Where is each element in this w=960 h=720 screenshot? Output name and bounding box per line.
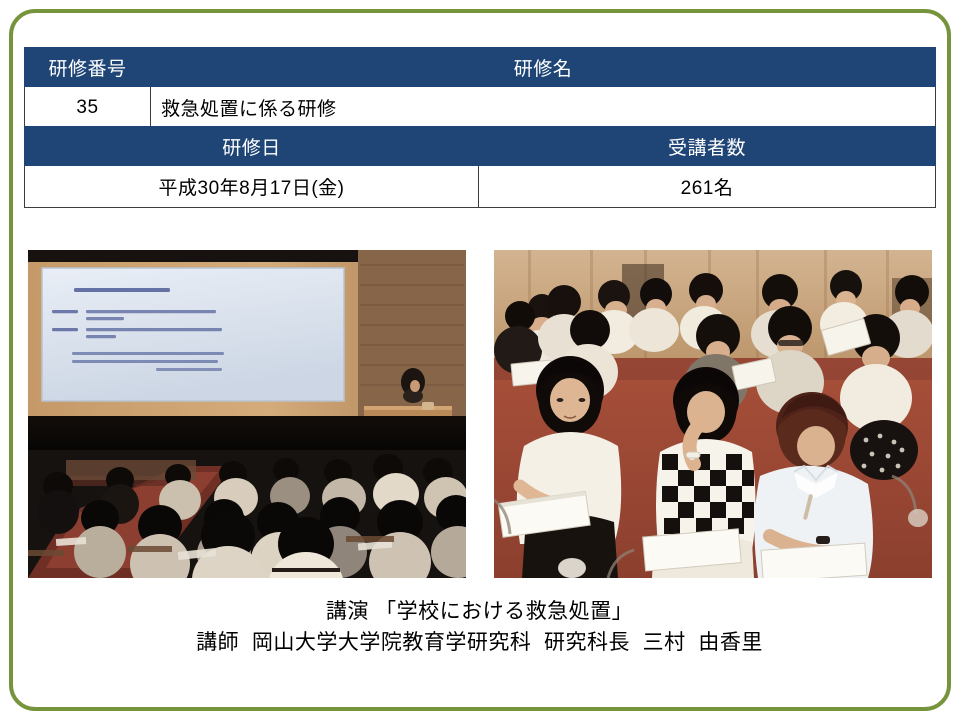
workshop-participants-photo — [494, 250, 932, 578]
training-info-table: 研修番号 研修名 35 救急処置に係る研修 — [24, 47, 936, 129]
caption-line-lecturer: 講師 岡山大学大学院教育学研究科 研究科長 三村 由香里 — [24, 627, 935, 658]
attendee-count-header: 受講者数 — [479, 127, 936, 166]
attendee-count-value: 261名 — [479, 166, 936, 208]
table-row-course-header: 研修番号 研修名 — [25, 48, 936, 87]
course-date-header: 研修日 — [25, 127, 479, 166]
course-title-value: 救急処置に係る研修 — [151, 87, 936, 129]
lecture-hall-photo-art — [28, 250, 466, 578]
course-date-value: 平成30年8月17日(金) — [25, 166, 479, 208]
slide-canvas: 研修番号 研修名 35 救急処置に係る研修 研修日 受講者数 平成30年8月17… — [0, 0, 960, 720]
table-row-detail-values: 平成30年8月17日(金) 261名 — [25, 166, 936, 208]
table-row-detail-header: 研修日 受講者数 — [25, 127, 936, 166]
training-detail-table: 研修日 受講者数 平成30年8月17日(金) 261名 — [24, 126, 936, 208]
course-number-value: 35 — [25, 87, 151, 129]
caption-line-lecture-title: 講演 「学校における救急処置」 — [24, 596, 935, 627]
workshop-participants-photo-art — [494, 250, 932, 578]
course-title-header: 研修名 — [151, 48, 936, 87]
table-row-course-values: 35 救急処置に係る研修 — [25, 87, 936, 129]
course-number-header: 研修番号 — [25, 48, 151, 87]
lecture-hall-photo — [28, 250, 466, 578]
photo-caption: 講演 「学校における救急処置」 講師 岡山大学大学院教育学研究科 研究科長 三村… — [24, 596, 935, 658]
